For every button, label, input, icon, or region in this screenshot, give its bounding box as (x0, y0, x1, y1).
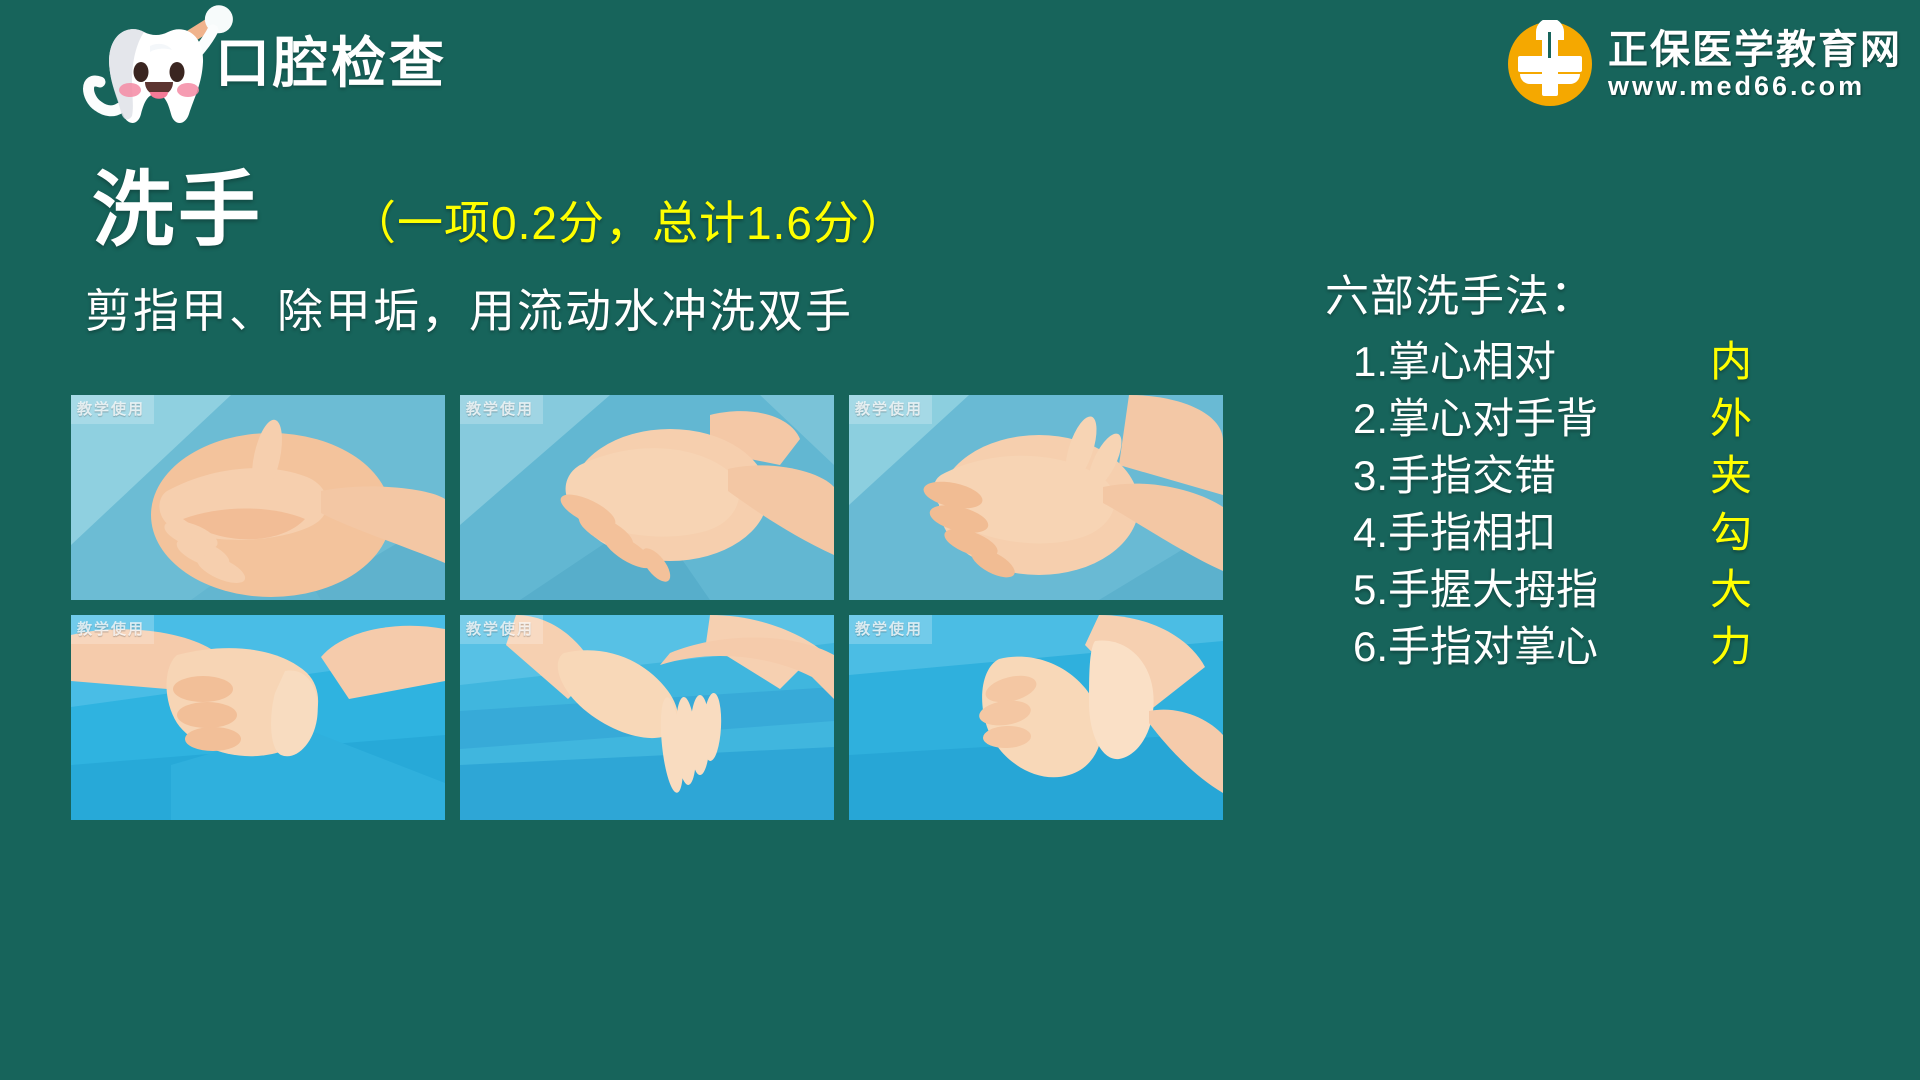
step-keyword: 勾 (1710, 512, 1752, 554)
handwashing-photo-grid: 教学使用 教学使用 (71, 395, 1223, 820)
photo-watermark: 教学使用 (849, 615, 932, 644)
step-label: 6.手指对掌心 (1353, 626, 1598, 668)
step-label: 2.掌心对手背 (1353, 398, 1598, 440)
step-keyword: 大 (1710, 569, 1752, 611)
photo-step-1: 教学使用 (71, 395, 445, 600)
page-title: 口腔检查 (215, 36, 447, 91)
step-keyword: 夹 (1710, 455, 1752, 497)
photo-step-4: 教学使用 (71, 615, 445, 820)
step-label: 4.手指相扣 (1353, 512, 1556, 554)
medical-cross-circle-icon (1506, 20, 1594, 108)
step-keyword: 内 (1710, 341, 1752, 383)
step-item-4: 4.手指相扣 勾 (1325, 512, 1885, 569)
photo-step-3: 教学使用 (849, 395, 1223, 600)
photo-watermark: 教学使用 (460, 615, 543, 644)
photo-watermark: 教学使用 (71, 615, 154, 644)
section-title: 洗手 (92, 170, 264, 252)
step-keyword: 外 (1710, 398, 1752, 440)
step-item-5: 5.手握大拇指 大 (1325, 569, 1885, 626)
photo-step-5: 教学使用 (460, 615, 834, 820)
step-keyword: 力 (1710, 626, 1752, 668)
step-item-1: 1.掌心相对 内 (1325, 341, 1885, 398)
photo-watermark: 教学使用 (71, 395, 154, 424)
brand-name: 正保医学教育网 (1608, 29, 1902, 71)
step-label: 5.手握大拇指 (1353, 569, 1598, 611)
score-note: （一项0.2分，总计1.6分） (350, 200, 907, 246)
step-item-3: 3.手指交错 夹 (1325, 455, 1885, 512)
step-item-2: 2.掌心对手背 外 (1325, 398, 1885, 455)
step-label: 1.掌心相对 (1353, 341, 1556, 383)
steps-heading: 六部洗手法： (1325, 275, 1885, 319)
photo-watermark: 教学使用 (849, 395, 932, 424)
photo-watermark: 教学使用 (460, 395, 543, 424)
step-item-6: 6.手指对掌心 力 (1325, 626, 1885, 683)
section-subtitle: 剪指甲、除甲垢，用流动水冲洗双手 (85, 288, 853, 334)
section-title-row: 洗手 （一项0.2分，总计1.6分） (92, 170, 907, 252)
photo-step-6: 教学使用 (849, 615, 1223, 820)
page-header: 口腔检查 正保医学教育网 www.med66.com (0, 0, 1920, 130)
brand-logo: 正保医学教育网 www.med66.com (1506, 8, 1902, 120)
six-step-handwash-panel: 六部洗手法： 1.掌心相对 内 2.掌心对手背 外 3.手指交错 夹 4.手指相… (1325, 275, 1885, 683)
step-label: 3.手指交错 (1353, 455, 1556, 497)
brand-url: www.med66.com (1608, 73, 1902, 100)
photo-step-2: 教学使用 (460, 395, 834, 600)
